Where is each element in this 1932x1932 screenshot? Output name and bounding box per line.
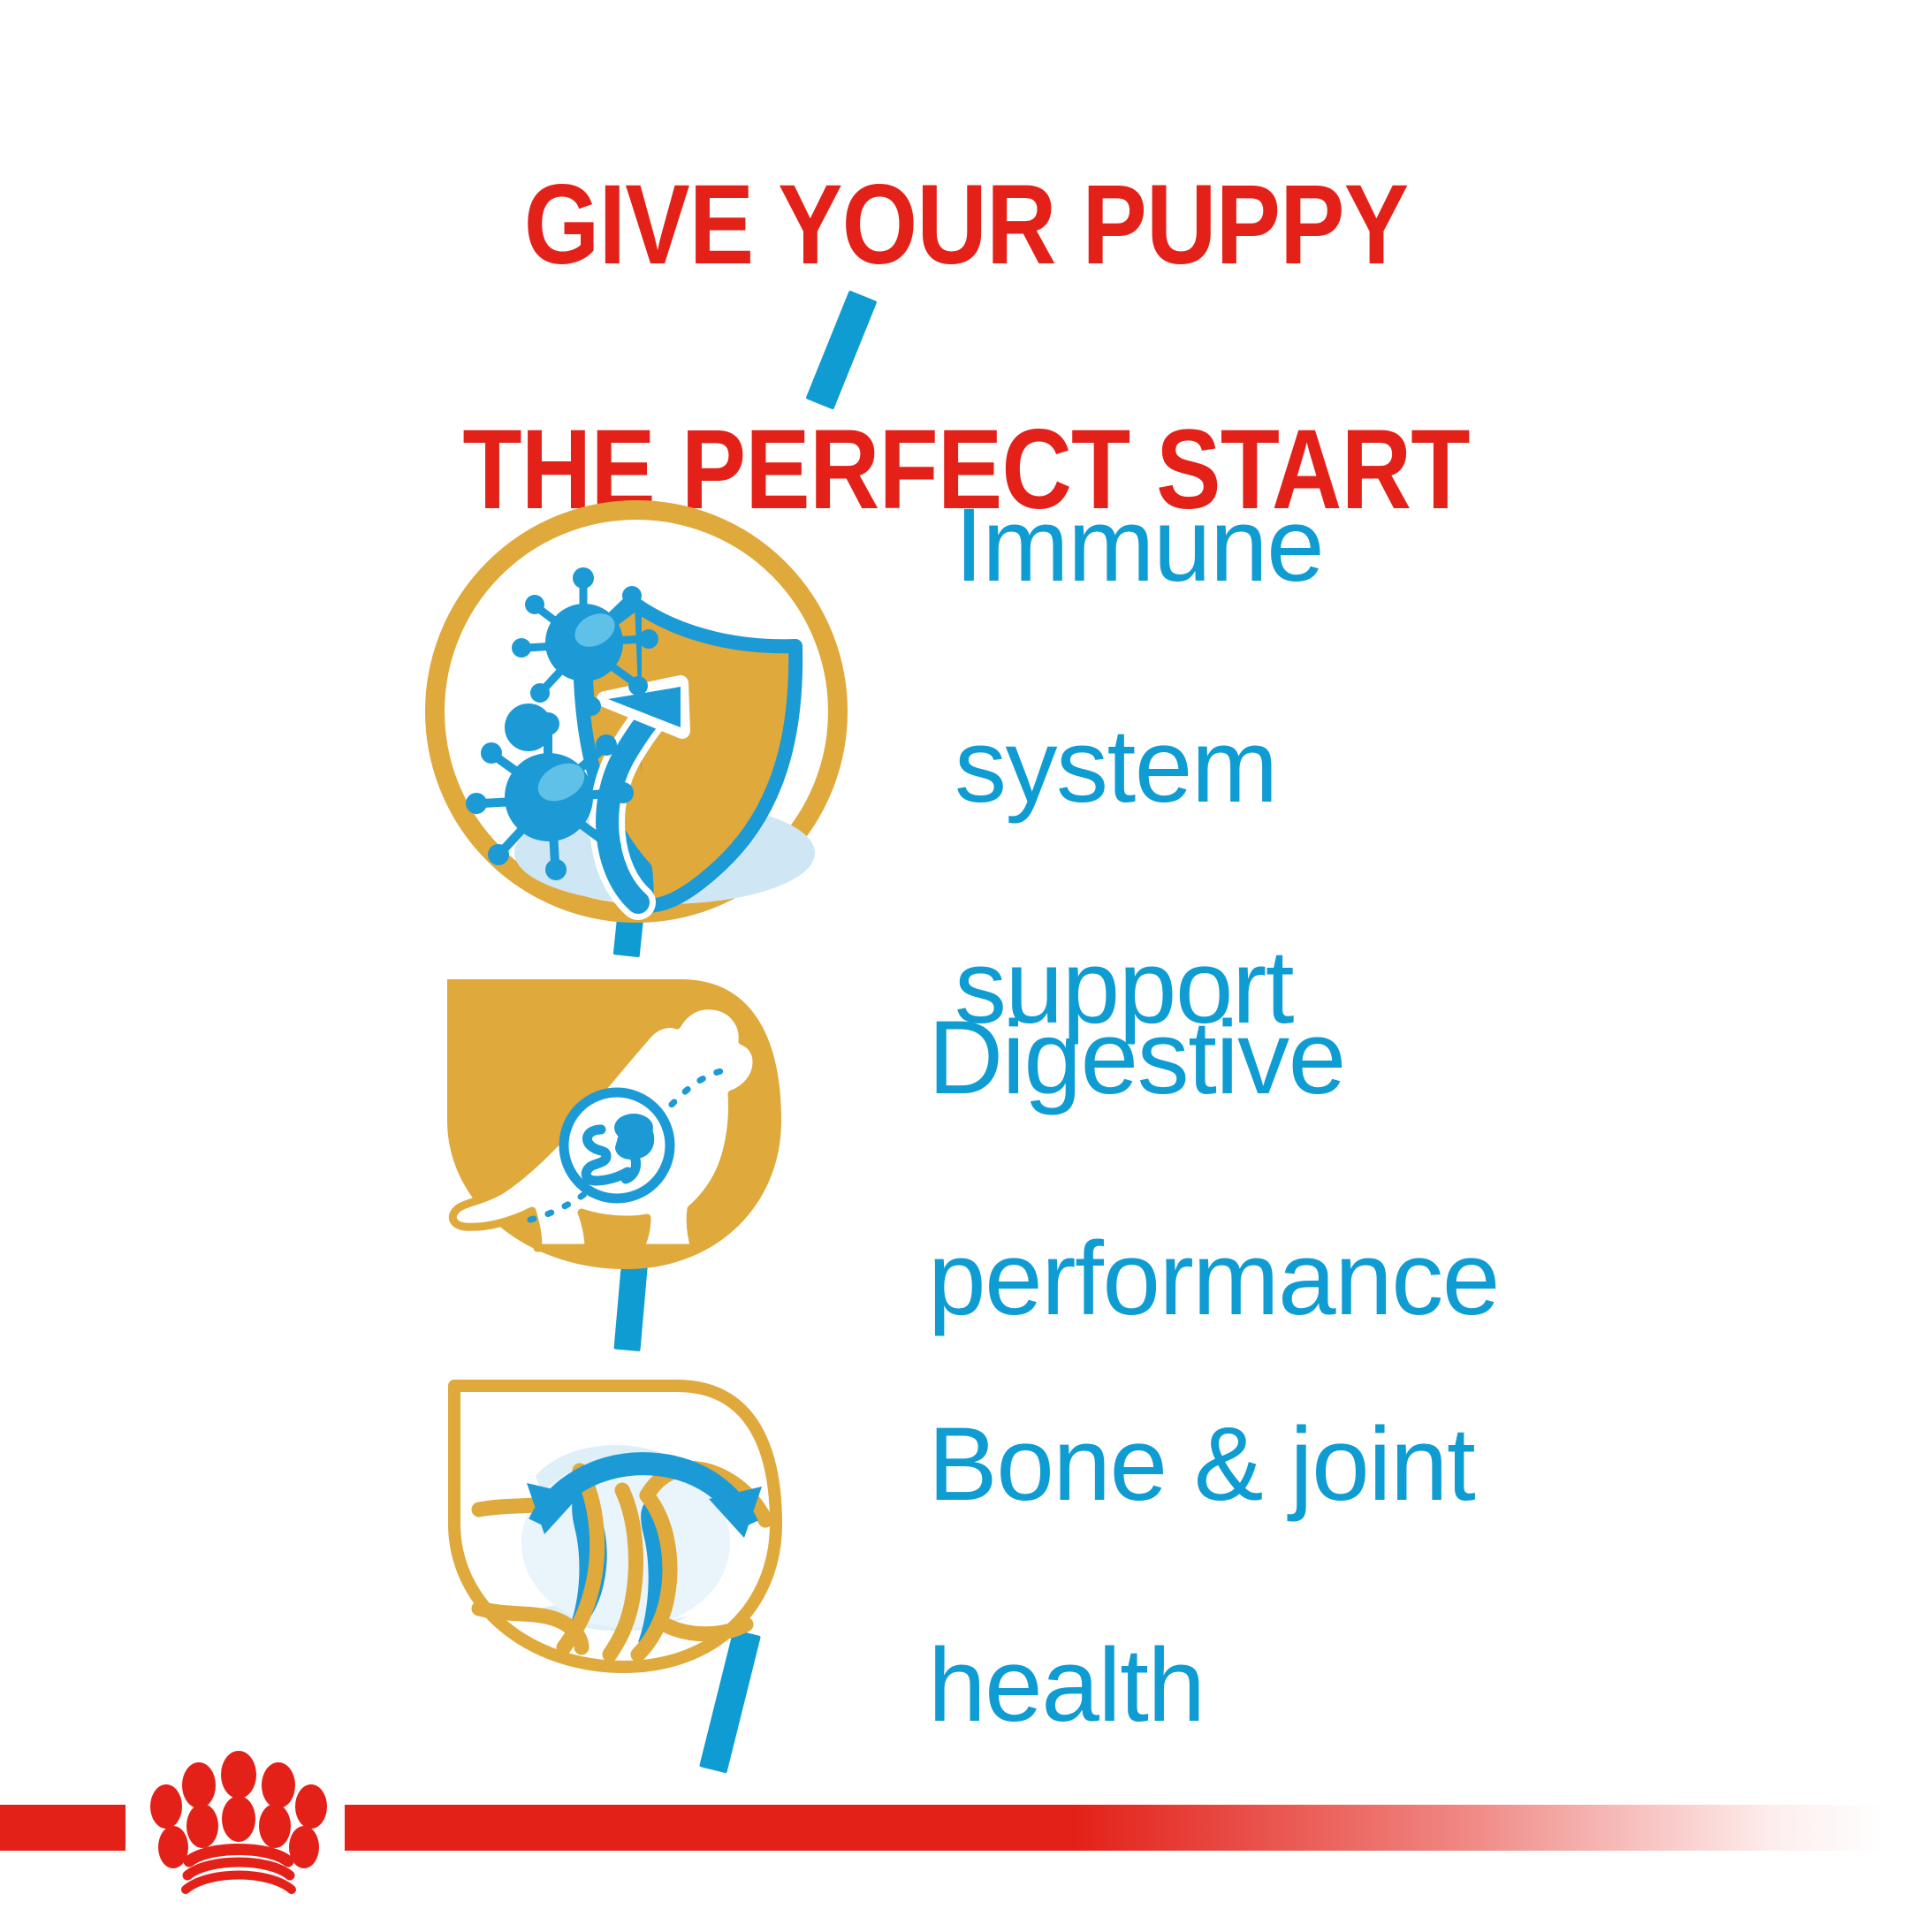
footer-bar-left — [0, 1805, 126, 1851]
puppy-digestive-icon — [415, 937, 804, 1290]
benefit-row-bone-joint: Bone & joint health — [415, 1299, 1474, 1741]
headline-line-1: GIVE YOUR PUPPY — [135, 164, 1797, 286]
footer-bar-right — [345, 1805, 1932, 1851]
royal-canin-crown-icon — [133, 1739, 345, 1907]
benefit-label-bone-joint: Bone & joint health — [928, 1299, 1474, 1741]
benefit-label-immune-line1: Immune — [955, 487, 1323, 604]
benefit-label-digestive: Digestive performance — [928, 893, 1499, 1335]
footer — [0, 1723, 1932, 1932]
immune-shield-virus-icon — [415, 491, 857, 932]
benefit-row-digestive: Digestive performance — [415, 893, 1499, 1335]
bone-joint-icon — [415, 1343, 804, 1697]
poster-canvas: GIVE YOUR PUPPY THE PERFECT START — [0, 0, 1932, 1932]
benefit-label-digestive-line1: Digestive — [928, 1000, 1345, 1116]
benefit-label-immune-line2: system — [955, 708, 1277, 825]
benefit-label-bone-joint-line1: Bone & joint — [928, 1406, 1474, 1523]
